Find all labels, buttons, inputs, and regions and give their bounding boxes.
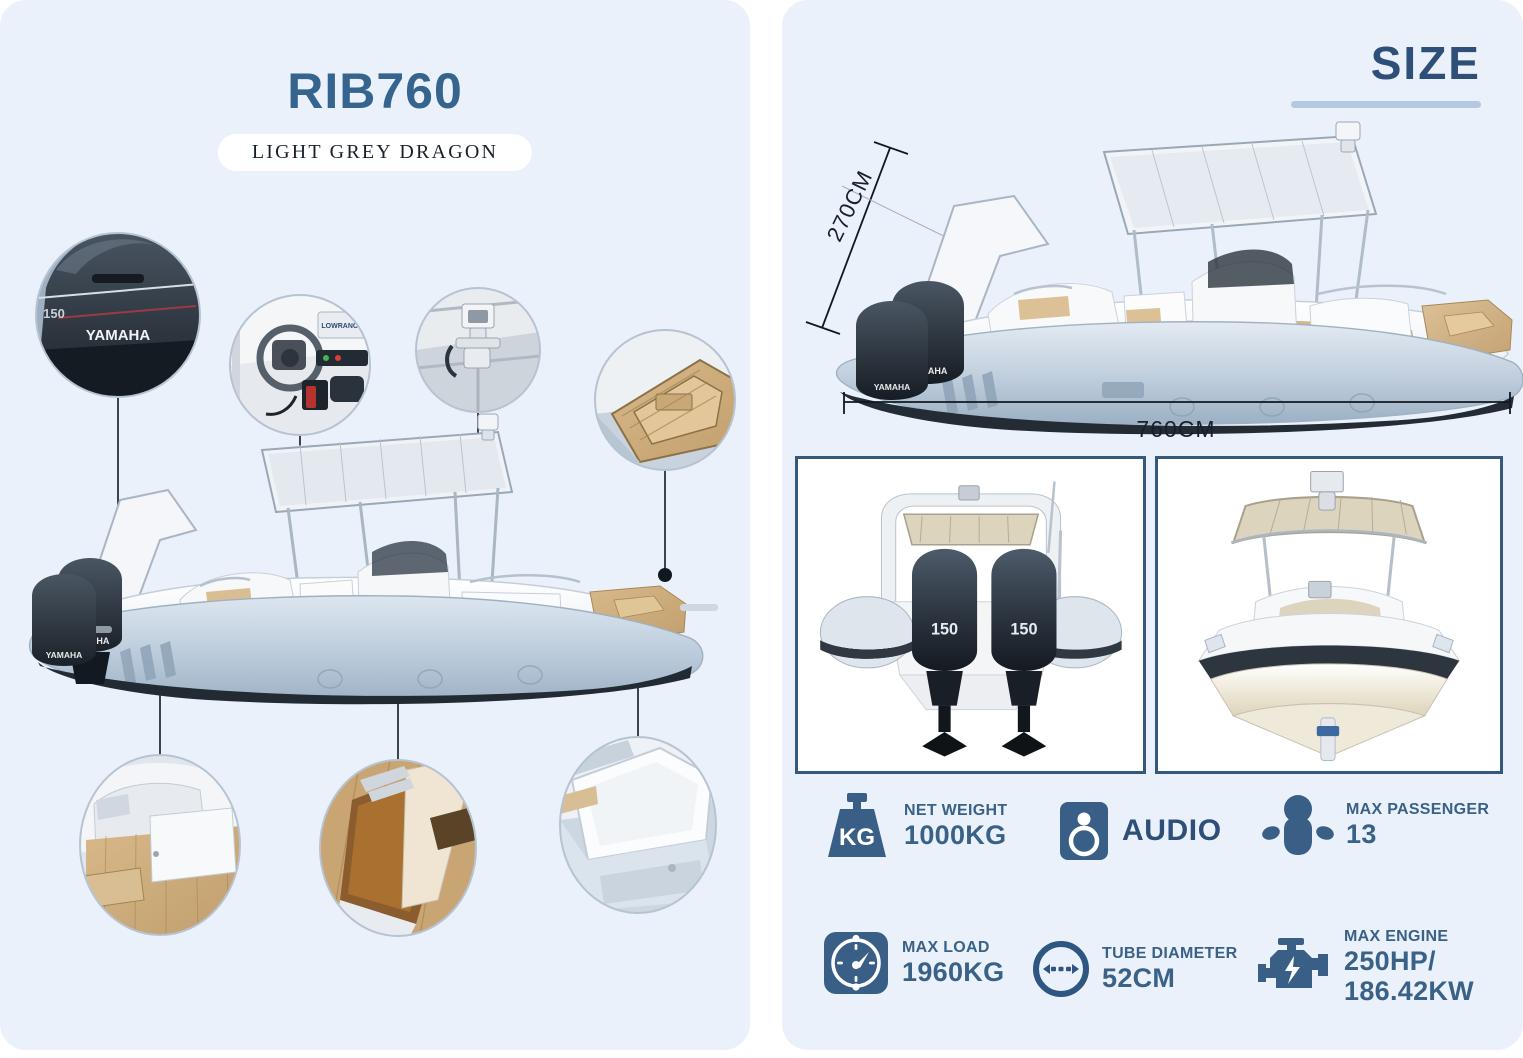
subtitle-pill: LIGHT GREY DRAGON: [218, 134, 532, 171]
spec-label: MAX ENGINE: [1344, 928, 1474, 946]
hero-boat-illustration: YAMAHA YAMAHA: [837, 122, 1523, 434]
weight-kg-icon: KG: [822, 793, 892, 859]
gauge-max-load-icon: [822, 930, 890, 996]
length-dimension-label: 760CM: [842, 416, 1510, 443]
tube-diameter-icon: [1032, 940, 1090, 998]
callout-teak-swim-platform: [595, 330, 742, 470]
svg-text:KG: KG: [839, 824, 875, 851]
spec-max-engine: MAX ENGINE 250HP/ 186.42KW: [1258, 928, 1474, 1006]
svg-text:150: 150: [1010, 620, 1037, 638]
svg-text:150: 150: [43, 306, 65, 321]
callout-searchlight-spotlight: [416, 288, 540, 412]
product-subtitle: LIGHT GREY DRAGON: [252, 141, 498, 163]
spec-max-passenger: MAX PASSENGER 13: [1262, 793, 1489, 857]
spec-value: 1960KG: [902, 957, 1004, 987]
callout-teak-table-console: [300, 760, 476, 936]
spec-value: 250HP/: [1344, 946, 1474, 976]
spec-value-line2: 186.42KW: [1344, 976, 1474, 1006]
spec-value: 1000KG: [904, 820, 1007, 850]
audio-speaker-icon: [1058, 800, 1110, 862]
size-heading: SIZE: [1371, 40, 1481, 86]
photo-bow-view: [1155, 456, 1503, 774]
stern-view-illustration: 150 150: [798, 459, 1143, 771]
callout-bow-deck-sunpad: [560, 737, 716, 913]
spec-audio: AUDIO: [1058, 800, 1222, 862]
spec-tube-diameter: TUBE DIAMETER 52CM: [1032, 940, 1237, 998]
svg-text:YAMAHA: YAMAHA: [874, 382, 911, 392]
engine-icon: [1258, 936, 1332, 998]
boat-callout-diagram: YAMAHA YAMAHA YAMAHA 150: [0, 200, 750, 1000]
bow-view-illustration: [1158, 459, 1500, 771]
spec-label: TUBE DIAMETER: [1102, 945, 1237, 963]
size-heading-rule: [1291, 101, 1481, 108]
svg-text:YAMAHA: YAMAHA: [46, 650, 83, 660]
callout-yamaha-outboard-engine: YAMAHA 150: [36, 228, 200, 401]
spec-value: AUDIO: [1122, 814, 1222, 848]
svg-text:150: 150: [931, 620, 958, 638]
spec-max-load: MAX LOAD 1960KG: [822, 930, 1004, 996]
photo-stern-view: 150 150: [795, 456, 1146, 774]
size-hero-diagram: YAMAHA YAMAHA: [782, 110, 1523, 440]
spec-label: MAX LOAD: [902, 939, 1004, 957]
main-boat-illustration: YAMAHA YAMAHA: [30, 414, 718, 704]
callout-helm-console-dashboard: LOWRANCE: [230, 295, 370, 435]
spec-value: 13: [1346, 819, 1489, 849]
spec-label: MAX PASSENGER: [1346, 801, 1489, 819]
svg-text:YAMAHA: YAMAHA: [86, 327, 151, 344]
spec-value: 52CM: [1102, 963, 1237, 993]
spec-label: NET WEIGHT: [904, 802, 1007, 820]
spec-net-weight: KG NET WEIGHT 1000KG: [822, 793, 1007, 859]
callout-cockpit-seating: [80, 755, 240, 935]
product-overview-panel: RIB760 LIGHT GREY DRAGON: [0, 0, 750, 1050]
page-title: RIB760: [0, 66, 750, 116]
passenger-icon: [1262, 793, 1334, 857]
